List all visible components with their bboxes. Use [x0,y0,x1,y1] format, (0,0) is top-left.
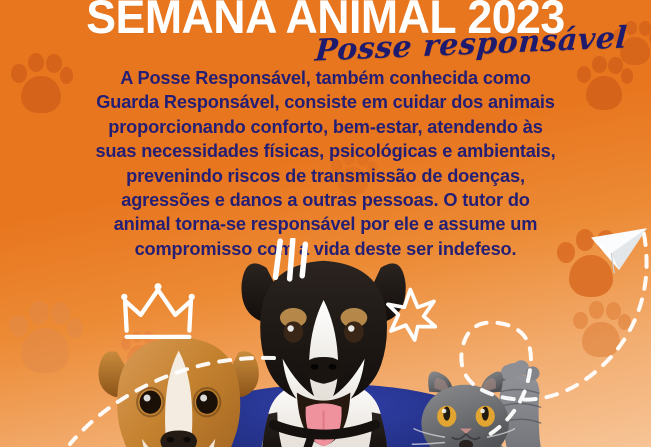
animals-photo-group [0,236,651,447]
body-line: Guarda Responsável, consiste em cuidar d… [26,90,625,114]
body-line: A Posse Responsável, também conhecida co… [26,66,625,90]
poster-body-text: A Posse Responsável, também conhecida co… [26,66,625,261]
poster-canvas: SEMANA ANIMAL 2023 Posse responsável A P… [0,0,651,447]
black-and-white-dog-photo [222,248,427,447]
body-line: prevenindo riscos de transmissão de doen… [26,164,625,188]
body-line: animal torna-se responsável por ele e as… [26,212,625,236]
body-line: proporcionando conforto, bem-estar, aten… [26,115,625,139]
body-line: agressões e danos a outras pessoas. O tu… [26,188,625,212]
grey-cat-photo [410,346,585,447]
body-line: suas necessidades físicas, psicológicas … [26,139,625,163]
